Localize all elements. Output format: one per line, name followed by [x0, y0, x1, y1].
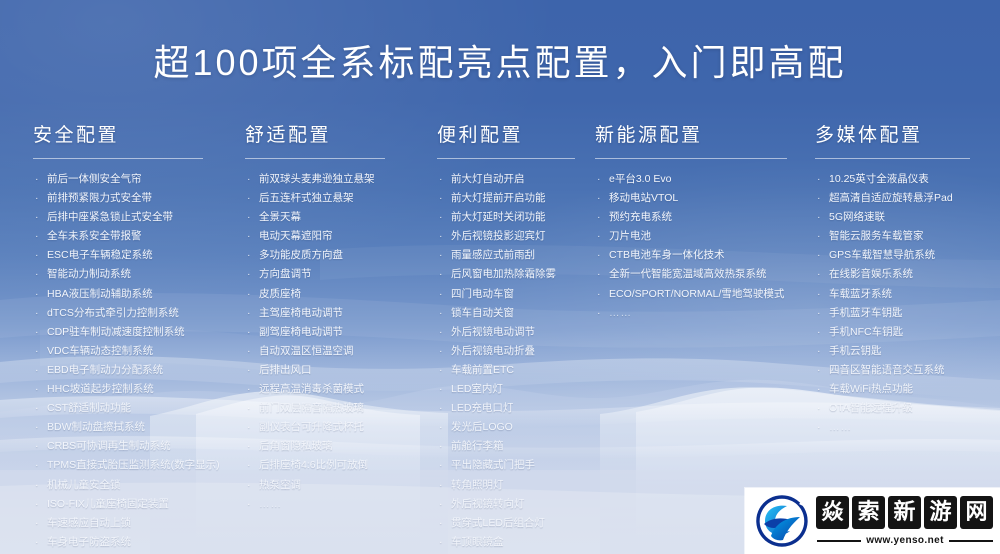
- bullet-icon: ·: [35, 361, 39, 380]
- feature-label: 前大灯提前开启功能: [451, 192, 546, 204]
- bullet-icon: ·: [597, 227, 601, 246]
- bullet-icon: ·: [35, 265, 39, 284]
- bullet-icon: ·: [35, 514, 39, 533]
- feature-list-item: ·LED充电口灯: [437, 399, 615, 418]
- feature-label: 车载前置ETC: [451, 364, 514, 376]
- feature-label: 外后视镜电动折叠: [451, 345, 535, 357]
- bullet-icon: ·: [817, 170, 821, 189]
- feature-list-item: ·车载蓝牙系统: [815, 285, 990, 304]
- feature-column-multimedia: 多媒体配置 ·10.25英寸全液晶仪表·超高清自适应旋转悬浮Pad·5G网络速联…: [815, 124, 990, 437]
- feature-list-item: ·e平台3.0 Evo: [595, 170, 805, 189]
- feature-label: ……: [829, 421, 852, 433]
- feature-label: 手机NFC车钥匙: [829, 326, 903, 338]
- feature-list: ·前后一体侧安全气帘·前排预紧限力式安全带·后排中座紧急锁止式安全带·全车未系安…: [33, 170, 223, 554]
- feature-list-item: ·副驾座椅电动调节: [245, 323, 435, 342]
- feature-list-item: ·后排中座紧急锁止式安全带: [33, 208, 223, 227]
- feature-list-item: ·前舱行李箱: [437, 437, 615, 456]
- bullet-icon: ·: [247, 399, 251, 418]
- feature-list-item: ·热泵空调: [245, 476, 435, 495]
- watermark-rule-left: [817, 540, 861, 542]
- feature-list-item: ·前排预紧限力式安全带: [33, 189, 223, 208]
- feature-list-item: ·HBA液压制动辅助系统: [33, 285, 223, 304]
- bullet-icon: ·: [817, 227, 821, 246]
- feature-label: 后排中座紧急锁止式安全带: [47, 211, 173, 223]
- feature-column-new-energy: 新能源配置 ·e平台3.0 Evo·移动电站VTOL·预约充电系统·刀片电池·C…: [595, 124, 805, 323]
- feature-list-item: ·CST舒适制动功能: [33, 399, 223, 418]
- bullet-icon: ·: [35, 170, 39, 189]
- column-heading: 舒适配置: [245, 124, 435, 148]
- feature-label: 在线影音娱乐系统: [829, 268, 913, 280]
- feature-label: 主驾座椅电动调节: [259, 307, 343, 319]
- feature-label: CST舒适制动功能: [47, 402, 131, 414]
- feature-label: 全景天幕: [259, 211, 301, 223]
- feature-label: BDW制动盘擦拭系统: [47, 421, 145, 433]
- bullet-icon: ·: [817, 246, 821, 265]
- feature-list-item: ·前大灯延时关闭功能: [437, 208, 615, 227]
- bullet-icon: ·: [35, 227, 39, 246]
- bullet-icon: ·: [439, 285, 443, 304]
- bullet-icon: ·: [247, 437, 251, 456]
- feature-label: 贯穿式LED后组合灯: [451, 517, 545, 529]
- feature-label: ESC电子车辆稳定系统: [47, 249, 153, 261]
- feature-list-item: ·前后一体侧安全气帘: [33, 170, 223, 189]
- bullet-icon: ·: [439, 208, 443, 227]
- feature-list-item: ·CTB电池车身一体化技术: [595, 246, 805, 265]
- feature-label: 车速感应自动上锁: [47, 517, 131, 529]
- feature-label: TPMS直接式胎压监测系统(数字显示): [47, 459, 220, 471]
- bullet-icon: ·: [439, 304, 443, 323]
- feature-label: 雨量感应式前雨刮: [451, 249, 535, 261]
- feature-list-item: ·BDW制动盘擦拭系统: [33, 418, 223, 437]
- feature-label: 前大灯延时关闭功能: [451, 211, 546, 223]
- feature-label: 车载蓝牙系统: [829, 288, 892, 300]
- feature-label: 前双球头麦弗逊独立悬架: [259, 173, 375, 185]
- bullet-icon: ·: [35, 456, 39, 475]
- feature-list-item: ·贯穿式LED后组合灯: [437, 514, 615, 533]
- feature-label: 后风窗电加热除霜除雾: [451, 268, 556, 280]
- bullet-icon: ·: [817, 265, 821, 284]
- column-divider: [815, 158, 970, 159]
- feature-label: 自动双温区恒温空调: [259, 345, 354, 357]
- feature-label: CTB电池车身一体化技术: [609, 249, 725, 261]
- feature-list-item: ·TPMS直接式胎压监测系统(数字显示): [33, 456, 223, 475]
- feature-label: 四门电动车窗: [451, 288, 514, 300]
- bullet-icon: ·: [439, 170, 443, 189]
- bullet-icon: ·: [439, 342, 443, 361]
- bullet-icon: ·: [247, 495, 252, 514]
- bullet-icon: ·: [817, 418, 822, 437]
- bullet-icon: ·: [35, 437, 39, 456]
- bullet-icon: ·: [247, 227, 251, 246]
- feature-list-item: ·移动电站VTOL: [595, 189, 805, 208]
- bullet-icon: ·: [439, 456, 443, 475]
- feature-label: 前舱行李箱: [451, 440, 504, 452]
- feature-label: 后排出风口: [259, 364, 312, 376]
- feature-label: 前排预紧限力式安全带: [47, 192, 152, 204]
- feature-list-item: ·方向盘调节: [245, 265, 435, 284]
- feature-label: 四音区智能语音交互系统: [829, 364, 945, 376]
- feature-list-item: ·外后视镜电动折叠: [437, 342, 615, 361]
- feature-list-item: ·锁车自动关窗: [437, 304, 615, 323]
- feature-list: ·前大灯自动开启·前大灯提前开启功能·前大灯延时关闭功能·外后视镜投影迎宾灯·雨…: [437, 170, 615, 554]
- feature-label: CRBS可协调再生制动系统: [47, 440, 171, 452]
- feature-label: HBA液压制动辅助系统: [47, 288, 153, 300]
- feature-list-item: ·10.25英寸全液晶仪表: [815, 170, 990, 189]
- feature-label: 副仪表台可升降式杯托: [259, 421, 364, 433]
- bullet-icon: ·: [439, 495, 443, 514]
- feature-label: 转角照明灯: [451, 479, 504, 491]
- feature-list-item: ·后风窗电加热除霜除雾: [437, 265, 615, 284]
- bullet-icon: ·: [439, 380, 443, 399]
- bullet-icon: ·: [439, 437, 443, 456]
- feature-list-item: ·后角窗隐私玻璃: [245, 437, 435, 456]
- feature-label: 机械儿童安全锁: [47, 479, 121, 491]
- bullet-icon: ·: [597, 304, 602, 323]
- bullet-icon: ·: [597, 208, 601, 227]
- feature-column-safety: 安全配置 ·前后一体侧安全气帘·前排预紧限力式安全带·后排中座紧急锁止式安全带·…: [33, 124, 223, 554]
- watermark-url: www.yenso.net: [866, 535, 944, 546]
- feature-label: HHC坡道起步控制系统: [47, 383, 154, 395]
- feature-label: 智能云服务车载管家: [829, 230, 924, 242]
- bullet-icon: ·: [247, 380, 251, 399]
- feature-label: 车载WiFi热点功能: [829, 383, 913, 395]
- bullet-icon: ·: [817, 189, 821, 208]
- feature-label: 超高清自适应旋转悬浮Pad: [829, 192, 953, 204]
- feature-label: 远程高温消毒杀菌模式: [259, 383, 364, 395]
- feature-list-item: ·ESC电子车辆稳定系统: [33, 246, 223, 265]
- feature-label: 5G网络速联: [829, 211, 885, 223]
- feature-label: 发光后LOGO: [451, 421, 513, 433]
- feature-label: OTA智能远程升级: [829, 402, 913, 414]
- watermark-logo-icon: [755, 494, 809, 548]
- bullet-icon: ·: [597, 189, 601, 208]
- feature-label: 后排座椅4:6比例可放倒: [259, 459, 368, 471]
- feature-column-comfort: 舒适配置 ·前双球头麦弗逊独立悬架·后五连杆式独立悬架·全景天幕·电动天幕遮阳帘…: [245, 124, 435, 514]
- bullet-icon: ·: [247, 285, 251, 304]
- bullet-icon: ·: [439, 514, 443, 533]
- feature-label: 全车未系安全带报警: [47, 230, 142, 242]
- bullet-icon: ·: [35, 399, 39, 418]
- feature-label: 手机云钥匙: [829, 345, 882, 357]
- bullet-icon: ·: [597, 170, 601, 189]
- column-heading: 多媒体配置: [815, 124, 990, 148]
- feature-list-item: ·在线影音娱乐系统: [815, 265, 990, 284]
- bullet-icon: ·: [817, 361, 821, 380]
- feature-list-item: ·车顶眼镜盒: [437, 533, 615, 552]
- feature-label: 预约充电系统: [609, 211, 672, 223]
- watermark-character: 新: [888, 496, 921, 529]
- feature-list-item: ·自动双温区恒温空调: [245, 342, 435, 361]
- feature-label: 锁车自动关窗: [451, 307, 514, 319]
- feature-column-convenience: 便利配置 ·前大灯自动开启·前大灯提前开启功能·前大灯延时关闭功能·外后视镜投影…: [437, 124, 615, 554]
- bullet-icon: ·: [35, 246, 39, 265]
- feature-list-item: ·ECO/SPORT/NORMAL/雪地驾驶模式: [595, 285, 805, 304]
- bullet-icon: ·: [35, 304, 39, 323]
- feature-label: 电动天幕遮阳帘: [259, 230, 333, 242]
- bullet-icon: ·: [35, 533, 39, 552]
- feature-list-item: ·四音区智能语音交互系统: [815, 361, 990, 380]
- bullet-icon: ·: [817, 380, 821, 399]
- bullet-icon: ·: [247, 246, 251, 265]
- column-divider: [245, 158, 385, 159]
- feature-label: 外后视镜投影迎宾灯: [451, 230, 546, 242]
- feature-label: 后角窗隐私玻璃: [259, 440, 333, 452]
- column-divider: [595, 158, 787, 159]
- feature-list-item: ·手机NFC车钥匙: [815, 323, 990, 342]
- feature-label: e平台3.0 Evo: [609, 173, 671, 185]
- feature-label: 车顶眼镜盒: [451, 536, 504, 548]
- feature-list-item: ·全景天幕: [245, 208, 435, 227]
- feature-list-item: ·前门双层隔音隔热玻璃: [245, 399, 435, 418]
- feature-list-item: ·全新一代智能宽温域高效热泵系统: [595, 265, 805, 284]
- feature-label: 多功能皮质方向盘: [259, 249, 343, 261]
- feature-label: GPS车载智慧导航系统: [829, 249, 935, 261]
- bullet-icon: ·: [439, 323, 443, 342]
- feature-list-item: ·手机蓝牙车钥匙: [815, 304, 990, 323]
- feature-list-item: ·主驾座椅电动调节: [245, 304, 435, 323]
- watermark-character: 焱: [816, 496, 849, 529]
- feature-label: 副驾座椅电动调节: [259, 326, 343, 338]
- site-watermark: 焱索新游网 www.yenso.net: [745, 488, 1000, 554]
- bullet-icon: ·: [247, 418, 251, 437]
- feature-list: ·前双球头麦弗逊独立悬架·后五连杆式独立悬架·全景天幕·电动天幕遮阳帘·多功能皮…: [245, 170, 435, 514]
- feature-list-item: ·电动天幕遮阳帘: [245, 227, 435, 246]
- feature-label: 10.25英寸全液晶仪表: [829, 173, 929, 185]
- watermark-brand-characters: 焱索新游网: [816, 496, 993, 529]
- feature-label: 前大灯自动开启: [451, 173, 525, 185]
- feature-list-item: ·机械儿童安全锁: [33, 476, 223, 495]
- feature-list-item: ·车载前置ETC: [437, 361, 615, 380]
- bullet-icon: ·: [35, 342, 39, 361]
- feature-list-item: ·超高清自适应旋转悬浮Pad: [815, 189, 990, 208]
- feature-label: 热泵空调: [259, 479, 301, 491]
- bullet-icon: ·: [247, 189, 251, 208]
- feature-list: ·e平台3.0 Evo·移动电站VTOL·预约充电系统·刀片电池·CTB电池车身…: [595, 170, 805, 323]
- bullet-icon: ·: [439, 533, 443, 552]
- feature-list-item: ·车身电子防盗系统: [33, 533, 223, 552]
- feature-list-item: ·前大灯自动开启: [437, 170, 615, 189]
- bullet-icon: ·: [439, 361, 443, 380]
- bullet-icon: ·: [439, 265, 443, 284]
- feature-label: 移动电站VTOL: [609, 192, 678, 204]
- feature-list-item: ·CRBS可协调再生制动系统: [33, 437, 223, 456]
- feature-list-item: ·EBD电子制动力分配系统: [33, 361, 223, 380]
- feature-list-item: ·四门电动车窗: [437, 285, 615, 304]
- feature-list-item: ·智能云服务车载管家: [815, 227, 990, 246]
- bullet-icon: ·: [35, 476, 39, 495]
- bullet-icon: ·: [247, 342, 251, 361]
- page-title: 超100项全系标配亮点配置，入门即高配: [0, 34, 1000, 86]
- feature-list-item: ·车速感应自动上锁: [33, 514, 223, 533]
- feature-list-item: ·雨量感应式前雨刮: [437, 246, 615, 265]
- bullet-icon: ·: [247, 323, 251, 342]
- feature-list-item: ·预约充电系统: [595, 208, 805, 227]
- column-heading: 新能源配置: [595, 124, 805, 148]
- bullet-icon: ·: [817, 285, 821, 304]
- bullet-icon: ·: [247, 456, 251, 475]
- bullet-icon: ·: [35, 495, 39, 514]
- watermark-rule-right: [949, 540, 993, 542]
- bullet-icon: ·: [35, 323, 39, 342]
- bullet-icon: ·: [439, 476, 443, 495]
- feature-list-item: ·CDP驻车制动减速度控制系统: [33, 323, 223, 342]
- bullet-icon: ·: [35, 418, 39, 437]
- bullet-icon: ·: [247, 170, 251, 189]
- feature-list-item: ·手机云钥匙: [815, 342, 990, 361]
- column-heading: 便利配置: [437, 124, 615, 148]
- watermark-character: 索: [852, 496, 885, 529]
- bullet-icon: ·: [439, 246, 443, 265]
- feature-list-item: ·智能动力制动系统: [33, 265, 223, 284]
- bullet-icon: ·: [35, 208, 39, 227]
- bullet-icon: ·: [817, 323, 821, 342]
- feature-list: ·10.25英寸全液晶仪表·超高清自适应旋转悬浮Pad·5G网络速联·智能云服务…: [815, 170, 990, 437]
- feature-list-item: ·远程高温消毒杀菌模式: [245, 380, 435, 399]
- bullet-icon: ·: [35, 380, 39, 399]
- bullet-icon: ·: [35, 285, 39, 304]
- feature-label: VDC车辆动态控制系统: [47, 345, 153, 357]
- feature-list-item: ·VDC车辆动态控制系统: [33, 342, 223, 361]
- feature-list-item: ·ISO-FIX儿童座椅固定装置: [33, 495, 223, 514]
- feature-label: 方向盘调节: [259, 268, 312, 280]
- feature-columns: 安全配置 ·前后一体侧安全气帘·前排预紧限力式安全带·后排中座紧急锁止式安全带·…: [0, 124, 1000, 524]
- column-divider: [437, 158, 575, 159]
- feature-label: 全新一代智能宽温域高效热泵系统: [609, 268, 767, 280]
- watermark-character: 游: [924, 496, 957, 529]
- feature-list-item: ·发光后LOGO: [437, 418, 615, 437]
- feature-label: ……: [259, 498, 282, 510]
- bullet-icon: ·: [247, 361, 251, 380]
- feature-list-item: ·GPS车载智慧导航系统: [815, 246, 990, 265]
- feature-label: 平出隐藏式门把手: [451, 459, 535, 471]
- feature-list-item: ·后排座椅4:6比例可放倒: [245, 456, 435, 475]
- feature-list-item: ·副仪表台可升降式杯托: [245, 418, 435, 437]
- feature-list-item: ·……: [595, 304, 805, 323]
- bullet-icon: ·: [439, 227, 443, 246]
- bullet-icon: ·: [817, 399, 821, 418]
- feature-list-item: ·转角照明灯: [437, 476, 615, 495]
- feature-label: LED室内灯: [451, 383, 503, 395]
- feature-list-item: ·全车未系安全带报警: [33, 227, 223, 246]
- feature-label: 前后一体侧安全气帘: [47, 173, 142, 185]
- feature-list-item: ·车载WiFi热点功能: [815, 380, 990, 399]
- feature-list-item: ·外后视镜转向灯: [437, 495, 615, 514]
- bullet-icon: ·: [247, 208, 251, 227]
- feature-label: 刀片电池: [609, 230, 651, 242]
- feature-label: EBD电子制动力分配系统: [47, 364, 163, 376]
- bullet-icon: ·: [817, 342, 821, 361]
- feature-list-item: ·……: [245, 495, 435, 514]
- feature-list-item: ·前双球头麦弗逊独立悬架: [245, 170, 435, 189]
- feature-list-item: ·OTA智能远程升级: [815, 399, 990, 418]
- bullet-icon: ·: [597, 246, 601, 265]
- bullet-icon: ·: [817, 208, 821, 227]
- bullet-icon: ·: [247, 476, 251, 495]
- watermark-url-row: www.yenso.net: [816, 535, 993, 546]
- feature-list-item: ·多功能皮质方向盘: [245, 246, 435, 265]
- feature-list-item: ·……: [815, 418, 990, 437]
- bullet-icon: ·: [817, 304, 821, 323]
- feature-label: 车身电子防盗系统: [47, 536, 131, 548]
- bullet-icon: ·: [247, 304, 251, 323]
- feature-list-item: ·皮质座椅: [245, 285, 435, 304]
- feature-list-item: ·LED室内灯: [437, 380, 615, 399]
- feature-label: 手机蓝牙车钥匙: [829, 307, 903, 319]
- feature-list-item: ·前大灯提前开启功能: [437, 189, 615, 208]
- feature-list-item: ·HHC坡道起步控制系统: [33, 380, 223, 399]
- feature-label: 外后视镜电动调节: [451, 326, 535, 338]
- feature-label: 皮质座椅: [259, 288, 301, 300]
- feature-label: CDP驻车制动减速度控制系统: [47, 326, 185, 338]
- bullet-icon: ·: [439, 399, 443, 418]
- feature-label: ……: [609, 307, 632, 319]
- bullet-icon: ·: [439, 418, 443, 437]
- bullet-icon: ·: [439, 189, 443, 208]
- bullet-icon: ·: [597, 285, 601, 304]
- feature-list-item: ·平出隐藏式门把手: [437, 456, 615, 475]
- column-divider: [33, 158, 203, 159]
- feature-label: dTCS分布式牵引力控制系统: [47, 307, 179, 319]
- column-heading: 安全配置: [33, 124, 223, 148]
- feature-list-item: ·后排出风口: [245, 361, 435, 380]
- feature-list-item: ·刀片电池: [595, 227, 805, 246]
- feature-list-item: ·外后视镜电动调节: [437, 323, 615, 342]
- feature-label: 外后视镜转向灯: [451, 498, 525, 510]
- feature-list-item: ·外后视镜投影迎宾灯: [437, 227, 615, 246]
- bullet-icon: ·: [35, 189, 39, 208]
- bullet-icon: ·: [597, 265, 601, 284]
- feature-list-item: ·5G网络速联: [815, 208, 990, 227]
- feature-label: ECO/SPORT/NORMAL/雪地驾驶模式: [609, 288, 784, 300]
- feature-list-item: ·后五连杆式独立悬架: [245, 189, 435, 208]
- watermark-character: 网: [960, 496, 993, 529]
- feature-label: LED充电口灯: [451, 402, 513, 414]
- feature-label: 智能动力制动系统: [47, 268, 131, 280]
- feature-label: ISO-FIX儿童座椅固定装置: [47, 498, 169, 510]
- feature-list-item: ·dTCS分布式牵引力控制系统: [33, 304, 223, 323]
- feature-label: 后五连杆式独立悬架: [259, 192, 354, 204]
- bullet-icon: ·: [247, 265, 251, 284]
- feature-label: 前门双层隔音隔热玻璃: [259, 402, 364, 414]
